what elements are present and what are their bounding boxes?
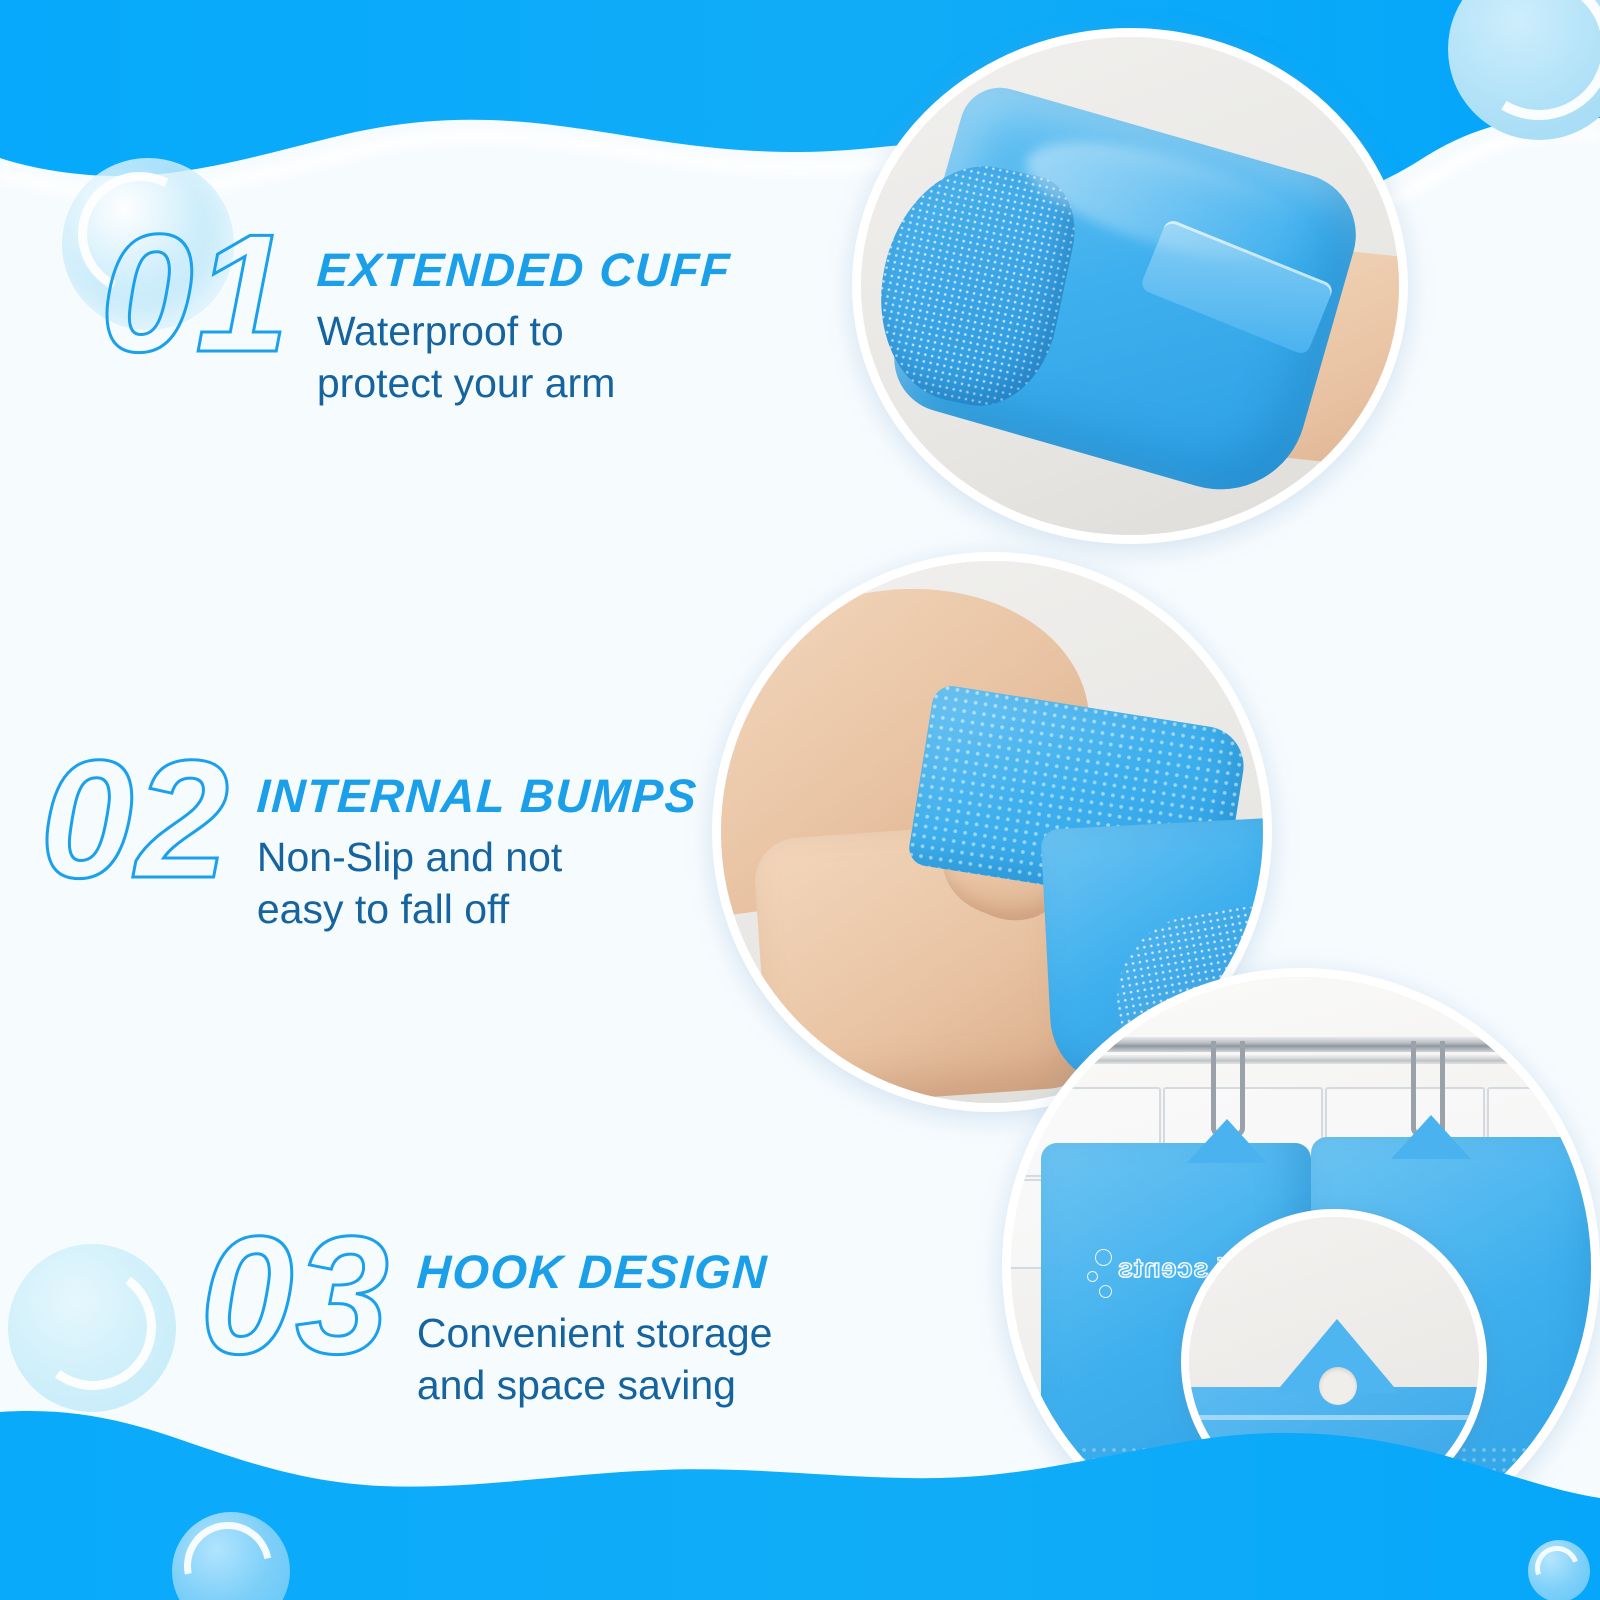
feature-row-2: 02 INTERNAL BUMPS Non-Slip and not easy …	[40, 740, 697, 936]
bubble-highlight-arc	[22, 1256, 164, 1398]
brand-bubble-dot	[1095, 1249, 1112, 1266]
feature-heading-1: EXTENDED CUFF	[315, 242, 732, 297]
feature-row-3: 03 HOOK DESIGN Convenient storage and sp…	[200, 1216, 772, 1412]
bubble-highlight-arc	[1451, 0, 1600, 135]
decorative-bubble-bottom-left	[172, 1512, 290, 1600]
inset-glove-edge	[1181, 1387, 1487, 1515]
hook-notch-inset	[1181, 1209, 1487, 1515]
feature-heading-2: INTERNAL BUMPS	[255, 768, 698, 823]
brand-bubble-dot	[1087, 1271, 1098, 1282]
feature-row-1: 01 EXTENDED CUFF Waterproof to protect y…	[100, 214, 731, 410]
decorative-bubble-top-right	[1448, 0, 1600, 140]
feature-body-1: Waterproof to protect your arm	[317, 305, 731, 410]
feature-number-2: 02	[40, 740, 231, 900]
feature-number-1: 01	[100, 214, 291, 374]
feature-body-2: Non-Slip and not easy to fall off	[257, 831, 698, 936]
feature-body-3: Convenient storage and space saving	[417, 1307, 773, 1412]
feature-number-3: 03	[200, 1216, 391, 1376]
extended-cuff-photo	[852, 28, 1408, 544]
bubble-highlight-arc	[167, 1505, 289, 1600]
towel-rail	[1055, 1037, 1600, 1052]
towel-rail-shadow	[1055, 1055, 1600, 1064]
inset-notch-hole	[1319, 1367, 1357, 1405]
hook-notch-right	[1391, 1115, 1471, 1159]
feature-heading-3: HOOK DESIGN	[415, 1244, 773, 1299]
hook-notch-left	[1187, 1119, 1267, 1163]
hook-design-photo: because of scents	[1002, 968, 1600, 1566]
decorative-bubble-left-lower	[8, 1244, 176, 1412]
brand-bubble-dot	[1099, 1285, 1112, 1298]
inset-edge-highlight	[1181, 1415, 1487, 1420]
product-feature-poster: because of scents 01 EXTENDED CUFF Water…	[0, 0, 1600, 1600]
